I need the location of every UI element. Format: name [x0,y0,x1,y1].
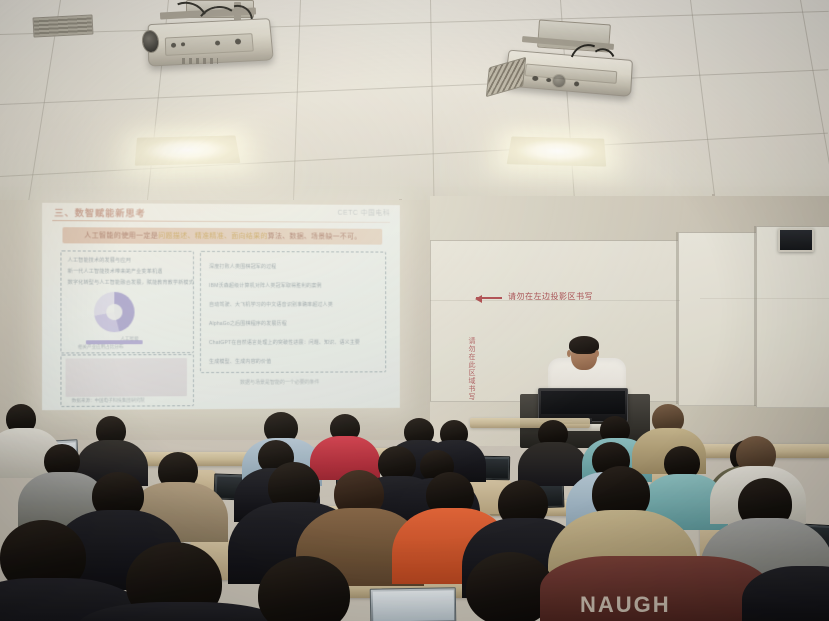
ceiling-projector-left [130,0,310,92]
jacket-print-text: NAUGH [580,592,671,618]
slide-pie-chart [94,292,135,332]
ceiling [0,0,829,222]
slide-banner-lead: 人工智能的使用一定是 [84,230,158,240]
slide-left-image-frame: 数据来源：中国电子科技集团研究院 [60,354,194,407]
slide-bullet: 深度打败人类围棋冠军的过程 [209,263,276,270]
slide-banner: 人工智能的使用一定是 问题描述、精准精准、面向结果的 算法、数据、场景缺一不可。 [62,227,382,244]
slide-left-panel: 人工智能技术的发展与应用 新一代人工智能技术带来的产业变革机遇 数字化转型与人工… [60,250,194,353]
slide-chart-label: 相关产业应用占比分布 [78,344,124,350]
desk-row [470,418,590,428]
slide-left-note: 人工智能技术的发展与应用 [68,257,131,264]
slide-bullet: AlphaGo之后围棋程序的发展历程 [209,320,287,327]
wall-speaker [778,228,814,252]
slide-left-note: 新一代人工智能技术带来的产业变革机遇 [68,268,163,275]
slide-bullet: ChatGPT在自然语言处理上的突破性进展：问题、知识、语义主要 [209,339,360,346]
air-vent-icon [33,14,94,37]
slide-left-image-caption: 数据来源：中国电子科技集团研究院 [72,397,145,403]
slide-banner-highlight: 问题描述、精准精准、面向结果的 [158,231,268,242]
slide-bullet: IBM沃森超级计算机对阵人类冠军取得胜利的案例 [209,282,322,289]
slide-footer: 数据与场景是智能的一个必要的条件 [240,379,319,386]
slide-bullet: 自动驾驶、大飞机学习的中文语音识别准确率超过人类 [209,301,333,308]
slide-divider [52,220,390,223]
slide-bullet: 生成模型、生成内容的价值 [209,358,271,365]
slide-left-note: 数字化转型与人工智能融合发展，赋能教育教学新模式 [68,279,194,286]
classroom-photo: 请勿在左边投影区书写 请勿在此区域书写 三、数智赋能新思考 CETC 中国电科 … [0,0,829,621]
slide-banner-tail: 算法、数据、场景缺一不可。 [268,231,362,241]
ceiling-panel-light [135,135,241,165]
projector-vent-icon [486,57,526,98]
laptop[interactable] [370,587,455,621]
ceiling-projector-right [492,22,652,112]
pillar-warning-text: 请勿在此区域书写 [466,337,476,413]
left-arrow-icon [476,297,502,299]
projected-slide: 三、数智赋能新思考 CETC 中国电科 人工智能的使用一定是 问题描述、精准精准… [42,203,400,410]
slide-right-panel: 深度打败人类围棋冠军的过程 IBM沃森超级计算机对阵人类冠军取得胜利的案例 自动… [200,251,386,373]
whiteboard-panel [756,226,829,408]
projector-lens-icon [552,74,566,88]
whiteboard-panel [678,232,760,406]
ceiling-panel-light [507,137,607,167]
whiteboard-warning-text: 请勿在左边投影区书写 [508,291,593,302]
cetc-logo: CETC 中国电科 [338,208,391,218]
slide-section-title: 三、数智赋能新思考 [54,206,145,220]
